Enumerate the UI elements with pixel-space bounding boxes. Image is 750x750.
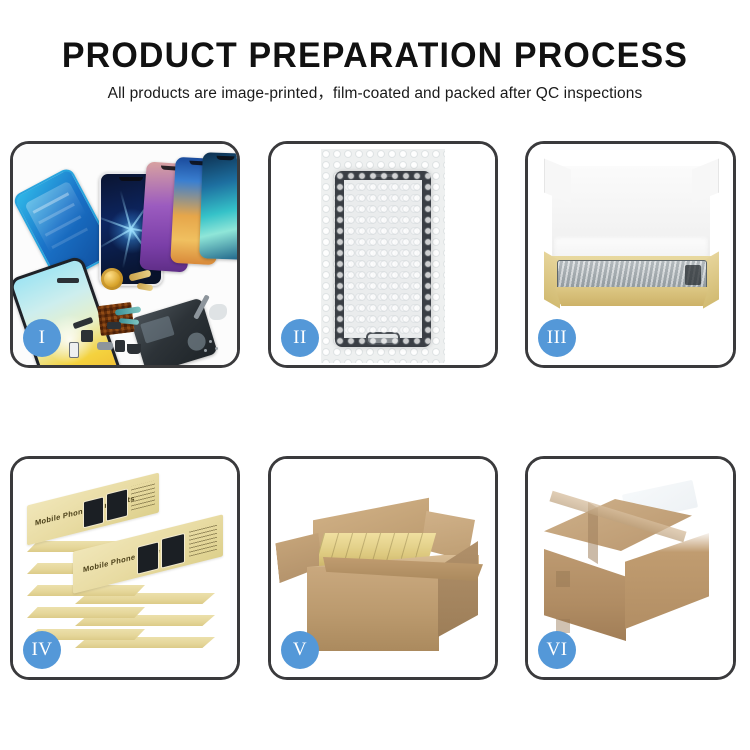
box-window-image [106, 488, 128, 521]
wrapped-screen-in-box [557, 260, 707, 290]
step-badge-1: I [23, 319, 61, 357]
screw-part [209, 340, 212, 343]
small-part [81, 330, 93, 342]
wrapped-phone-screen [335, 171, 431, 347]
teal-screen-phone [199, 152, 237, 260]
bubble-wrap-sheet [321, 149, 445, 363]
box-window-image [83, 496, 104, 528]
step-panel-6[interactable]: VI [525, 456, 736, 680]
box-spec-lines [131, 481, 155, 511]
step-badge-5: V [281, 631, 319, 669]
steps-grid: I II [0, 0, 750, 750]
home-button-icon [366, 332, 400, 345]
step-panel-4[interactable]: Mobile Phone Spare Parts Mobile Phone Sp… [10, 456, 240, 680]
screw-part [215, 347, 218, 350]
carton-side-face [625, 533, 709, 629]
step-badge-3: III [538, 319, 576, 357]
kraft-box-front [555, 287, 709, 306]
step-badge-4: IV [23, 631, 61, 669]
step-panel-3[interactable]: III [525, 141, 736, 368]
phone-notch-icon [216, 156, 235, 161]
small-part [107, 322, 121, 329]
small-part [69, 342, 79, 358]
small-part [127, 344, 141, 354]
tool-part [209, 304, 227, 320]
box-window-image [161, 533, 185, 569]
motherboard-part [130, 297, 218, 365]
step-panel-1[interactable]: I [10, 141, 240, 368]
box-spec-lines [189, 524, 217, 557]
carton-tab [556, 571, 570, 587]
small-part [115, 340, 125, 352]
screw-part [204, 349, 207, 352]
box-window-image [137, 541, 159, 574]
small-part [97, 342, 113, 350]
step-panel-2[interactable]: II [268, 141, 498, 368]
stacked-box [27, 607, 145, 618]
earpiece-icon [370, 174, 396, 177]
step-badge-6: VI [538, 631, 576, 669]
product-preparation-infographic: PRODUCT PREPARATION PROCESS All products… [0, 0, 750, 750]
connector-part [57, 278, 79, 283]
step-panel-5[interactable]: V [268, 456, 498, 680]
phone-notch-icon [119, 177, 143, 181]
step-badge-2: II [281, 319, 319, 357]
carton-front-face [307, 567, 439, 651]
speaker-coil-part [101, 268, 123, 290]
